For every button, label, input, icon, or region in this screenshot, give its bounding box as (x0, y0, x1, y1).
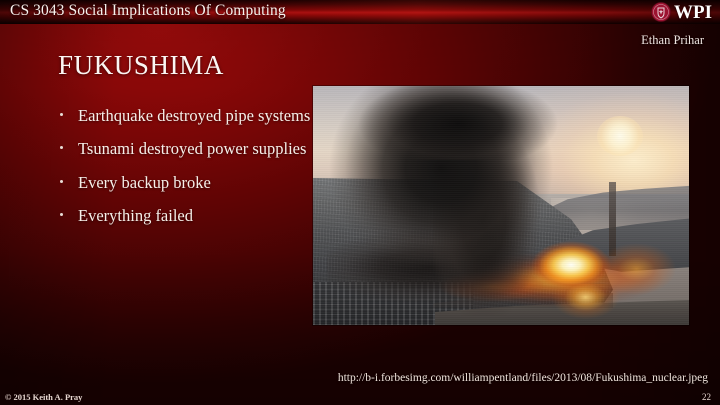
bullet-dot-icon (60, 180, 63, 183)
list-item: Every backup broke (56, 173, 311, 192)
photo-sun (597, 116, 643, 156)
photo-smoke-top (353, 86, 563, 160)
bullet-text: Earthquake destroyed pipe systems (78, 106, 310, 125)
slide-page-number: 22 (702, 392, 711, 402)
presentation-slide: CS 3043 Social Implications Of Computing… (0, 0, 720, 405)
list-item: Everything failed (56, 206, 311, 225)
bullet-dot-icon (60, 213, 63, 216)
footer-copyright: © 2015 Keith A. Pray (5, 392, 82, 402)
author-name: Ethan Prihar (641, 33, 704, 48)
list-item: Earthquake destroyed pipe systems (56, 106, 311, 125)
photo-source-url[interactable]: http://b-i.forbesimg.com/williampentland… (338, 372, 708, 384)
slide-title: FUKUSHIMA (58, 50, 224, 81)
wpi-wordmark: WPI (674, 3, 712, 22)
list-item: Tsunami destroyed power supplies (56, 139, 311, 158)
bullet-list: Earthquake destroyed pipe systems Tsunam… (56, 106, 311, 226)
wpi-seal-icon (651, 2, 671, 22)
bullet-dot-icon (60, 113, 63, 116)
bullet-text: Everything failed (78, 206, 193, 225)
bullet-dot-icon (60, 146, 63, 149)
course-title: CS 3043 Social Implications Of Computing (10, 2, 286, 20)
fukushima-disaster-photo (313, 86, 689, 325)
wpi-logo: WPI (651, 1, 712, 23)
bullet-text: Every backup broke (78, 173, 211, 192)
bullet-text: Tsunami destroyed power supplies (78, 139, 306, 158)
